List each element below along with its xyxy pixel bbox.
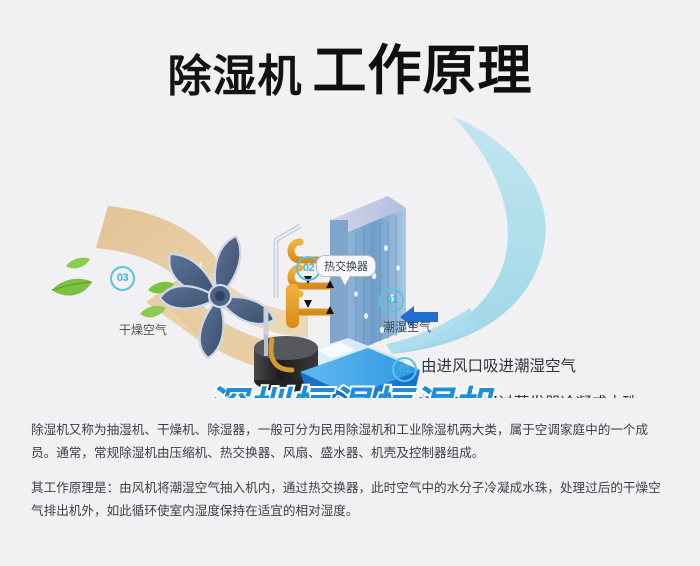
leaf-icon bbox=[140, 306, 166, 318]
dehumidifier-diagram: 03 02 01 热交换器 干燥空气 潮湿空气 水箱 01 由进风口吸进潮湿空气… bbox=[0, 108, 700, 398]
body-copy: 除湿机又称为抽湿机、干燥机、除湿器，一般可分为民用除湿机和工业除湿机两大类，属于… bbox=[31, 418, 673, 534]
diagram-badge-01: 01 bbox=[379, 288, 404, 313]
leaf-icon bbox=[66, 258, 90, 269]
paragraph-2: 其工作原理是：由风机将潮湿空气抽入机内，通过热交换器，此时空气中的水分子冷凝成水… bbox=[31, 476, 673, 522]
page-title: 除湿机工作原理 bbox=[0, 26, 700, 105]
callout-pointer-icon bbox=[339, 274, 351, 285]
humid-air-label: 潮湿空气 bbox=[383, 318, 431, 335]
diagram-badge-03: 03 bbox=[110, 266, 135, 291]
page-title-part1: 除湿机 bbox=[168, 52, 303, 101]
receiver-tank bbox=[286, 284, 299, 328]
page-root: 除湿机工作原理 bbox=[0, 0, 700, 566]
paragraph-1: 除湿机又称为抽湿机、干燥机、除湿器，一般可分为民用除湿机和工业除湿机两大类，属于… bbox=[31, 418, 673, 464]
watermark-text: 深圳恒温恒湿机 bbox=[0, 374, 700, 398]
dry-air-label: 干燥空气 bbox=[119, 321, 167, 338]
step-text-01: 由进风口吸进潮湿空气 bbox=[421, 354, 576, 376]
leaf-icon bbox=[52, 279, 92, 296]
page-title-part2: 工作原理 bbox=[313, 41, 533, 101]
